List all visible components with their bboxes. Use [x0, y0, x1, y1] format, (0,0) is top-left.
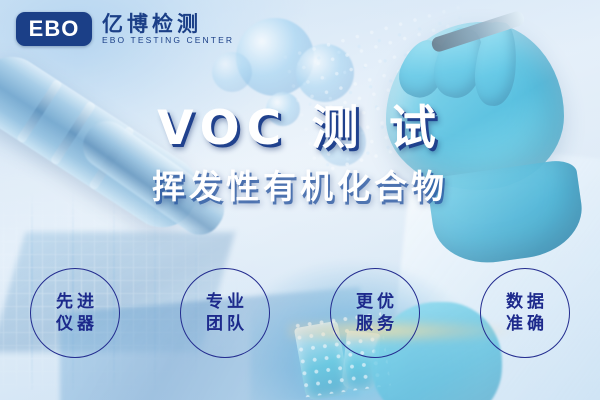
badge-line-1: 数据: [502, 294, 548, 311]
company-name-cn: 亿博检测: [102, 13, 234, 35]
company-name-en: EBO TESTING CENTER: [102, 36, 234, 45]
brand-name-block: 亿博检测 EBO TESTING CENTER: [102, 13, 234, 45]
badge-line-1: 更优: [352, 294, 398, 311]
ebo-logo-mark: EBO: [16, 12, 92, 46]
badge-line-2: 准确: [502, 316, 548, 333]
headline-block: VOC 测 试 挥发性有机化合物: [0, 104, 600, 205]
molecule-sphere-image: [212, 52, 252, 92]
page-subtitle: 挥发性有机化合物: [0, 169, 600, 205]
badge-line-1: 先进: [52, 294, 98, 311]
badge-line-2: 服务: [352, 316, 398, 333]
badge-line-2: 仪器: [52, 316, 98, 333]
ebo-logo-mark-text: EBO: [29, 18, 80, 40]
feature-badge-advanced-instruments: 先进 仪器: [30, 268, 120, 358]
voc-testing-banner: EBO 亿博检测 EBO TESTING CENTER VOC 测 试 挥发性有…: [0, 0, 600, 400]
brand-logo: EBO 亿博检测 EBO TESTING CENTER: [16, 12, 234, 46]
feature-badge-row: 先进 仪器 专业 团队 更优 服务 数据 准确: [30, 268, 570, 358]
feature-badge-professional-team: 专业 团队: [180, 268, 270, 358]
feature-badge-accurate-data: 数据 准确: [480, 268, 570, 358]
page-title: VOC 测 试: [0, 104, 600, 155]
badge-line-2: 团队: [202, 316, 248, 333]
feature-badge-better-service: 更优 服务: [330, 268, 420, 358]
badge-line-1: 专业: [202, 294, 248, 311]
